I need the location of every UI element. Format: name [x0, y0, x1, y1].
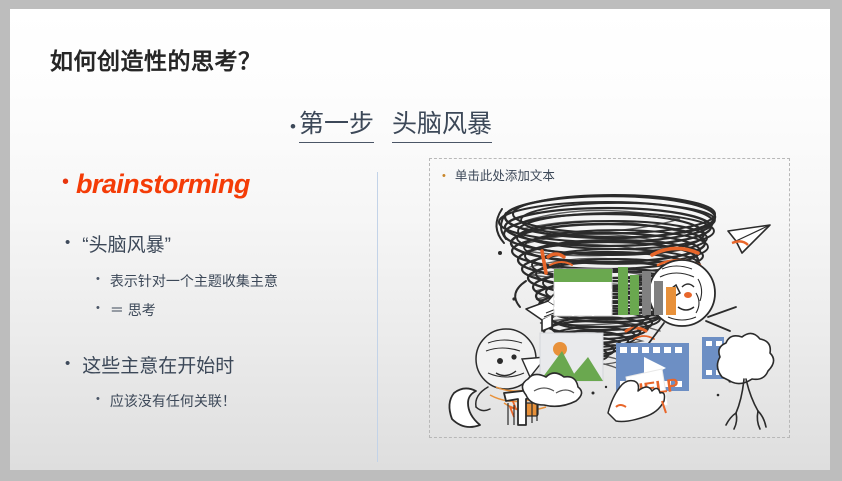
list-item-label: 这些主意在开始时 — [82, 355, 234, 380]
brainstorming-heading: • brainstorming — [38, 169, 373, 200]
subtitle-bullet: • — [290, 118, 296, 135]
list-item: • 应该没有任何关联！ — [38, 391, 373, 412]
slide-subtitle: • 第一步 头脑风暴 — [290, 109, 492, 143]
tornado-illustration: HELP — [430, 181, 789, 437]
list-bullet: • — [96, 300, 100, 317]
slide-title: 如何创造性的思考？ — [50, 42, 262, 76]
list-item-label: 表示针对一个主题收集主意 — [110, 271, 278, 292]
list-item: • 这些主意在开始时 — [38, 355, 373, 380]
content-placeholder[interactable]: • 单击此处添加文本 — [429, 158, 790, 438]
list-item: • “头脑风暴” — [38, 234, 373, 259]
brainstorming-bullet: • — [62, 172, 69, 192]
list-item-label: “头脑风暴” — [82, 234, 171, 259]
subtitle-step: 第一步 — [299, 109, 374, 143]
list-bullet: • — [65, 355, 70, 374]
list-item-label: ＝ 思考 — [110, 300, 156, 321]
paragraph-spacer — [38, 329, 373, 355]
left-text-column: • brainstorming • “头脑风暴” • 表示针对一个主题收集主意 … — [38, 169, 373, 420]
column-divider — [377, 172, 378, 462]
list-item-label: 应该没有任何关联！ — [110, 391, 236, 412]
subtitle-topic: 头脑风暴 — [392, 109, 492, 143]
list-bullet: • — [96, 391, 100, 408]
list-bullet: • — [65, 234, 70, 253]
list-bullet: • — [96, 271, 100, 288]
list-item: • ＝ 思考 — [38, 300, 373, 321]
brainstorming-word: brainstorming — [76, 169, 250, 200]
slide-canvas: 如何创造性的思考？ • 第一步 头脑风暴 • brainstorming • “… — [10, 9, 830, 470]
list-item: • 表示针对一个主题收集主意 — [38, 271, 373, 292]
